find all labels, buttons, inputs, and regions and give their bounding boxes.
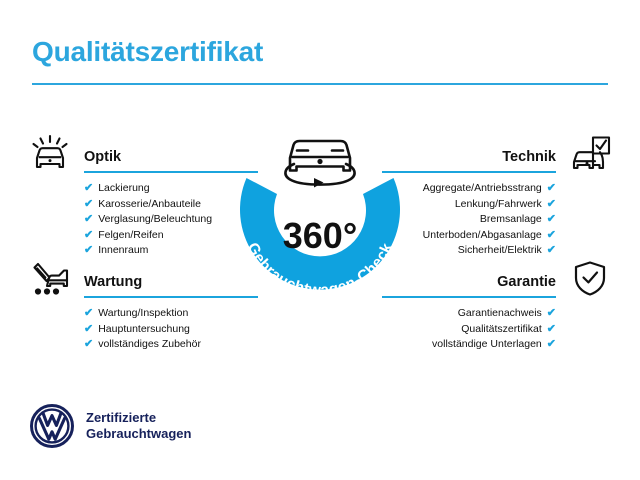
check-icon: ✔ [84, 230, 93, 241]
list-item-label: Qualitätszertifikat [461, 322, 542, 338]
list-item: ✔Hauptuntersuchung [28, 322, 258, 338]
header-divider [32, 83, 608, 85]
badge-center-label: 360° [283, 215, 357, 256]
wrench-car-icon [28, 258, 72, 298]
list-item-label: Unterboden/Abgasanlage [423, 228, 542, 244]
check-icon: ✔ [84, 214, 93, 225]
list-item-label: Hauptuntersuchung [98, 322, 190, 338]
check-icon: ✔ [547, 245, 556, 256]
shield-check-icon [568, 258, 612, 298]
list-item-label: Garantienachweis [458, 306, 542, 322]
list-item-label: Lackierung [98, 181, 149, 197]
list-item-label: Innenraum [98, 243, 148, 259]
check-icon: ✔ [547, 183, 556, 194]
section-technik-title: Technik [502, 149, 556, 165]
check-icon: ✔ [547, 339, 556, 350]
page-title: Qualitätszertifikat [32, 36, 263, 68]
check-icon: ✔ [84, 339, 93, 350]
check-icon: ✔ [84, 199, 93, 210]
badge-360-gebrauchtwagen-check: Gebrauchtwagen-Check 360° [222, 112, 418, 312]
list-item-label: vollständige Unterlagen [432, 337, 542, 353]
list-item-label: Sicherheit/Elektrik [458, 243, 542, 259]
vw-footer-line2: Gebrauchtwagen [86, 426, 191, 441]
check-icon: ✔ [84, 324, 93, 335]
list-item: Qualitätszertifikat✔ [382, 322, 612, 338]
check-icon: ✔ [84, 245, 93, 256]
car-rotation-icon [285, 141, 354, 188]
section-wartung-list: ✔Wartung/Inspektion ✔Hauptuntersuchung ✔… [28, 306, 258, 353]
car-checkbox-icon [568, 133, 612, 173]
list-item-label: Lenkung/Fahrwerk [455, 197, 542, 213]
vw-logo-icon [30, 404, 74, 448]
check-icon: ✔ [547, 308, 556, 319]
section-optik-title: Optik [84, 149, 121, 165]
list-item-label: Felgen/Reifen [98, 228, 163, 244]
list-item-label: vollständiges Zubehör [98, 337, 201, 353]
list-item-label: Bremsanlage [480, 212, 542, 228]
certificate-page: Qualitätszertifikat [0, 0, 640, 480]
car-shine-icon [28, 133, 72, 173]
section-wartung-title: Wartung [84, 274, 142, 290]
list-item-label: Wartung/Inspektion [98, 306, 188, 322]
section-garantie-title: Garantie [497, 274, 556, 290]
vw-footer-logo: Zertifizierte Gebrauchtwagen [30, 404, 191, 448]
check-icon: ✔ [547, 214, 556, 225]
check-icon: ✔ [84, 183, 93, 194]
check-icon: ✔ [84, 308, 93, 319]
section-garantie-list: Garantienachweis✔ Qualitätszertifikat✔ v… [382, 306, 612, 353]
list-item-label: Karosserie/Anbauteile [98, 197, 201, 213]
list-item: vollständige Unterlagen✔ [382, 337, 612, 353]
list-item: ✔vollständiges Zubehör [28, 337, 258, 353]
check-icon: ✔ [547, 324, 556, 335]
check-icon: ✔ [547, 199, 556, 210]
vw-footer-text: Zertifizierte Gebrauchtwagen [86, 410, 191, 442]
list-item-label: Verglasung/Beleuchtung [98, 212, 212, 228]
check-icon: ✔ [547, 230, 556, 241]
list-item-label: Aggregate/Antriebsstrang [423, 181, 542, 197]
vw-footer-line1: Zertifizierte [86, 410, 156, 425]
